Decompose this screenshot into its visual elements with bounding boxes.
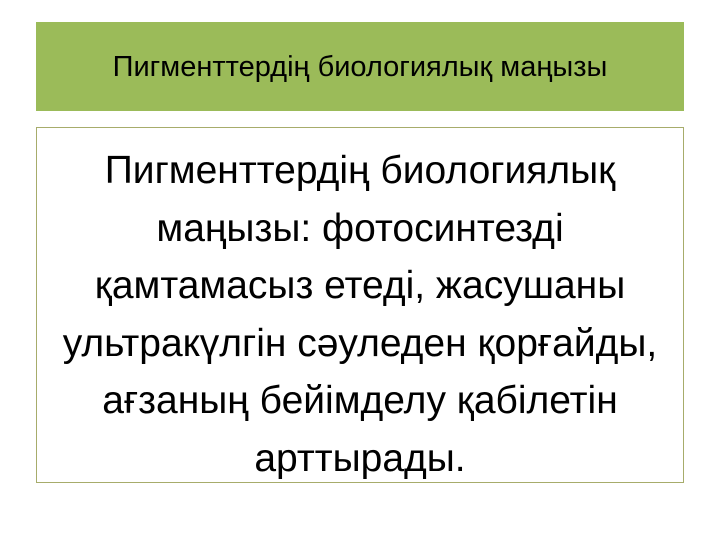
slide-body-text: Пигменттердің биологиялық маңызы: фотоси…: [47, 142, 673, 487]
slide-title: Пигменттердің биологиялық маңызы: [46, 49, 674, 85]
slide-title-banner: Пигменттердің биологиялық маңызы: [36, 22, 684, 111]
slide-content-box: Пигменттердің биологиялық маңызы: фотоси…: [36, 127, 684, 483]
slide: Пигменттердің биологиялық маңызы Пигмент…: [0, 0, 720, 540]
